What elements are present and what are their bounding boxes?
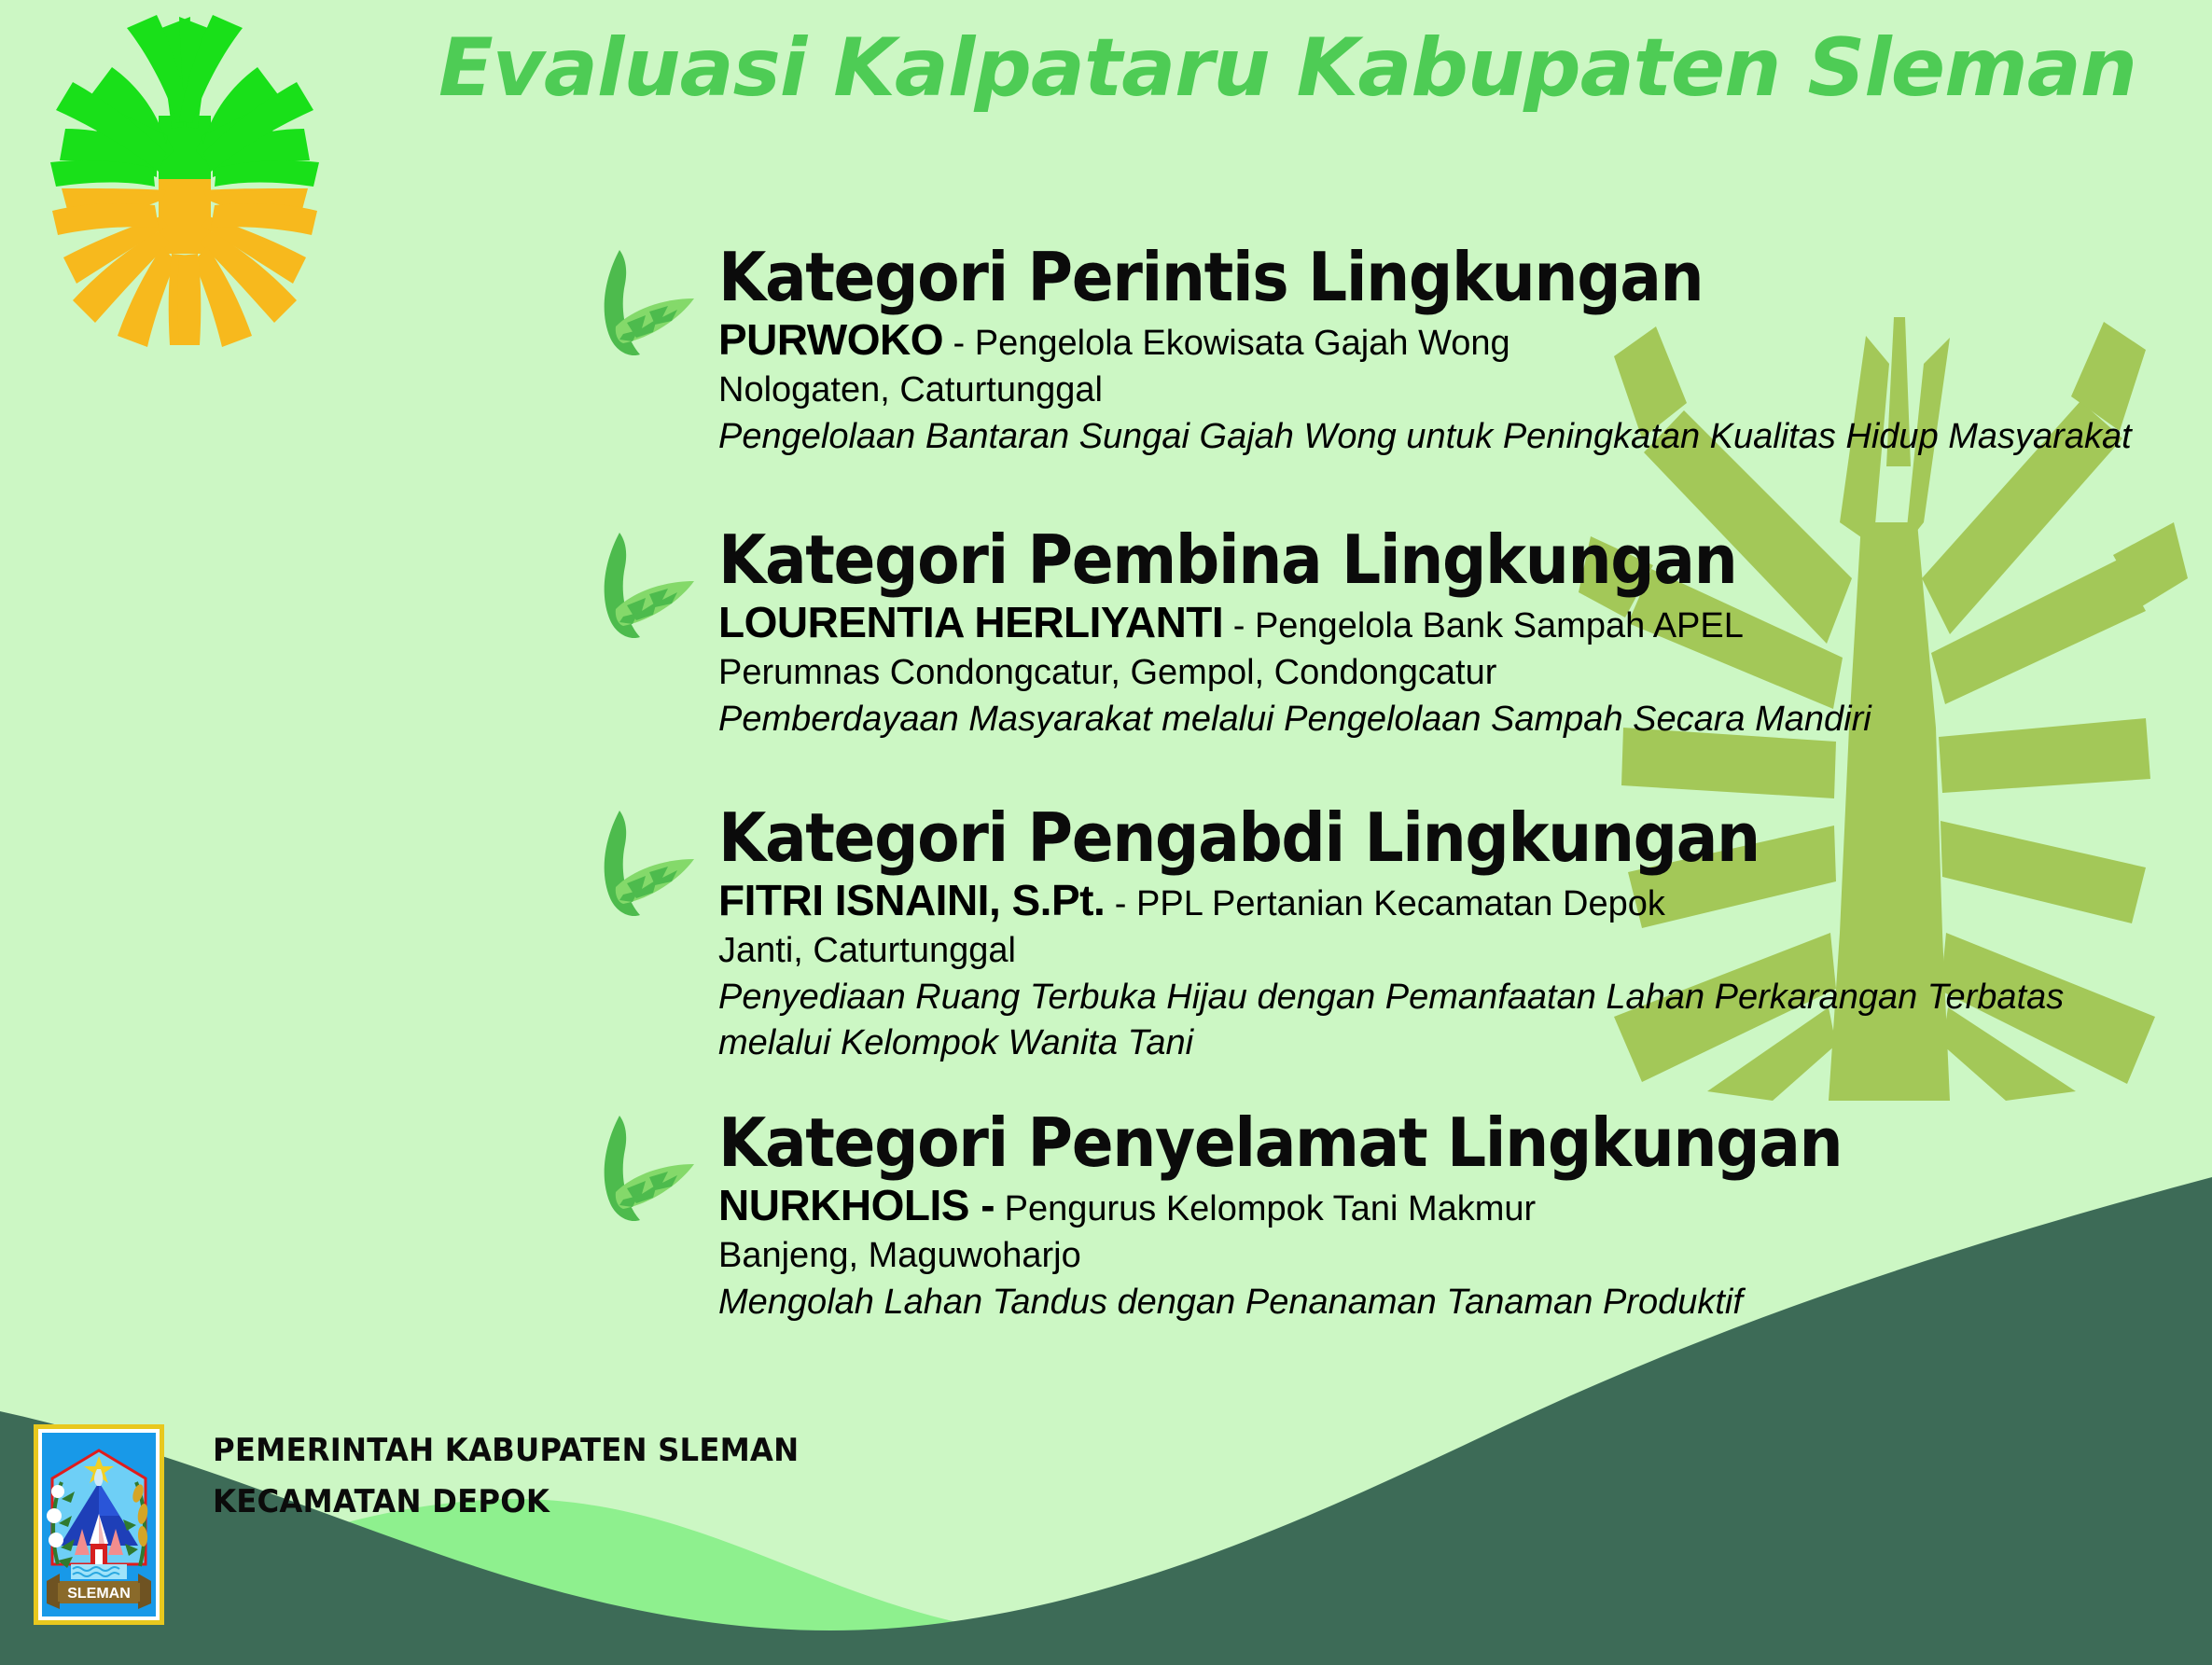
leaf-icon [588,244,700,366]
category-address: Janti, Caturtunggal [718,929,2064,974]
description-line: melalui Kelompok Wanita Tani [718,1020,2064,1066]
category-person: FITRI ISNAINI, S.Pt. - PPL Pertanian Kec… [718,875,2064,925]
person-name: FITRI ISNAINI, S.Pt. [718,876,1105,924]
leaf-icon [588,1110,700,1231]
footer-line-1: PEMERINTAH KABUPATEN SLEMAN [213,1425,799,1477]
description-line: Pengelolaan Bantaran Sungai Gajah Wong u… [718,414,2132,460]
category-description: Pengelolaan Bantaran Sungai Gajah Wong u… [718,414,2132,460]
person-role: - PPL Pertanian Kecamatan Depok [1105,884,1665,923]
person-name: PURWOKO [718,315,943,364]
category-person: NURKHOLIS - Pengurus Kelompok Tani Makmu… [718,1180,1940,1230]
category-block-pengabdi: Kategori Pengabdi Lingkungan FITRI ISNAI… [588,805,2064,1066]
category-block-pembina: Kategori Pembina Lingkungan LOURENTIA HE… [588,527,1871,742]
page-title: Evaluasi Kalpataru Kabupaten Sleman [373,17,2202,119]
person-role: - Pengelola Ekowisata Gajah Wong [943,324,1510,363]
logo-canopy [50,15,319,187]
category-heading: Kategori Perintis Lingkungan [718,244,2018,311]
description-line: Pemberdayaan Masyarakat melalui Pengelol… [718,697,1871,742]
person-role: Pengurus Kelompok Tani Makmur [995,1189,1536,1228]
category-description: Pemberdayaan Masyarakat melalui Pengelol… [718,697,1871,742]
category-person: LOURENTIA HERLIYANTI - Pengelola Bank Sa… [718,597,1871,647]
person-name: LOURENTIA HERLIYANTI [718,598,1223,646]
category-heading: Kategori Pembina Lingkungan [718,527,1779,593]
person-role: - Pengelola Bank Sampah APEL [1223,606,1744,645]
page-title-text: Evaluasi Kalpataru Kabupaten Sleman [438,21,2136,115]
logo-roots [52,179,317,347]
category-heading: Kategori Pengabdi Lingkungan [718,805,1956,871]
emblem-label: SLEMAN [67,1586,131,1602]
category-description: Mengolah Lahan Tandus dengan Penanaman T… [718,1280,1940,1325]
category-block-perintis: Kategori Perintis Lingkungan PURWOKO - P… [588,244,2132,460]
sleman-coat-of-arms: SLEMAN [34,1424,164,1625]
category-address: Perumnas Condongcatur, Gempol, Condongca… [718,651,1871,696]
category-person: PURWOKO - Pengelola Ekowisata Gajah Wong [718,314,2132,365]
category-heading: Kategori Penyelamat Lingkungan [718,1110,1842,1176]
footer-organization: PEMERINTAH KABUPATEN SLEMAN KECAMATAN DE… [213,1425,799,1528]
footer-line-2: KECAMATAN DEPOK [213,1477,799,1528]
category-block-penyelamat: Kategori Penyelamat Lingkungan NURKHOLIS… [588,1110,1940,1325]
description-line: Penyediaan Ruang Terbuka Hijau dengan Pe… [718,975,2064,1020]
description-line: Mengolah Lahan Tandus dengan Penanaman T… [718,1280,1940,1325]
category-address: Banjeng, Maguwoharjo [718,1234,1940,1279]
leaf-icon [588,527,700,648]
leaf-icon [588,805,700,926]
kalpataru-tree-logo [7,4,362,349]
person-name: NURKHOLIS - [718,1181,995,1229]
category-address: Nologaten, Caturtunggal [718,368,2132,413]
category-description: Penyediaan Ruang Terbuka Hijau dengan Pe… [718,975,2064,1065]
